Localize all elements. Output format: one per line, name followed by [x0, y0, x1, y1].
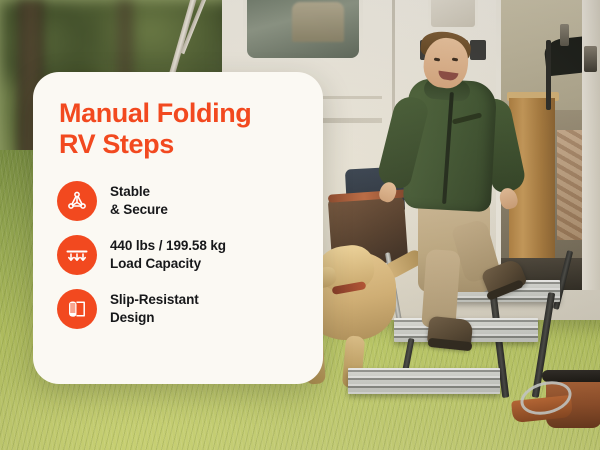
feature-label: 440 lbs / 199.58 kg Load Capacity — [110, 237, 226, 272]
title-line-1: Manual Folding — [59, 98, 297, 129]
feature-stable-secure: Stable & Secure — [57, 181, 301, 221]
slip-resistant-mat-icon — [57, 289, 97, 329]
feature-line-1: Stable — [110, 183, 168, 200]
rv-open-door-panel — [582, 0, 600, 290]
load-capacity-arrows-icon — [57, 235, 97, 275]
feature-line-2: Design — [110, 309, 199, 326]
promo-image: Manual Folding RV Steps S — [0, 0, 600, 450]
folding-step-bottom — [348, 368, 500, 394]
feature-label: Slip-Resistant Design — [110, 291, 199, 326]
rv-upper-window — [428, 0, 478, 30]
rv-door-handle — [560, 24, 569, 46]
feature-list: Stable & Secure — [33, 161, 323, 329]
rv-window-interior-seat — [292, 2, 344, 42]
title-line-2: RV Steps — [59, 129, 297, 160]
info-card: Manual Folding RV Steps S — [33, 72, 323, 384]
page-title: Manual Folding RV Steps — [33, 72, 323, 161]
feature-line-1: 440 lbs / 199.58 kg — [110, 237, 226, 254]
rv-vent — [470, 40, 486, 60]
feature-line-2: & Secure — [110, 201, 168, 218]
step-slats — [348, 368, 500, 394]
rv-door-lock — [584, 46, 597, 72]
tripod-triangle-icon — [57, 181, 97, 221]
feature-label: Stable & Secure — [110, 183, 168, 218]
feature-slip-resistant: Slip-Resistant Design — [57, 289, 301, 329]
feature-load-capacity: 440 lbs / 199.58 kg Load Capacity — [57, 235, 301, 275]
feature-line-2: Load Capacity — [110, 255, 226, 272]
feature-line-1: Slip-Resistant — [110, 291, 199, 308]
rv-door-edge-strip — [546, 40, 551, 110]
